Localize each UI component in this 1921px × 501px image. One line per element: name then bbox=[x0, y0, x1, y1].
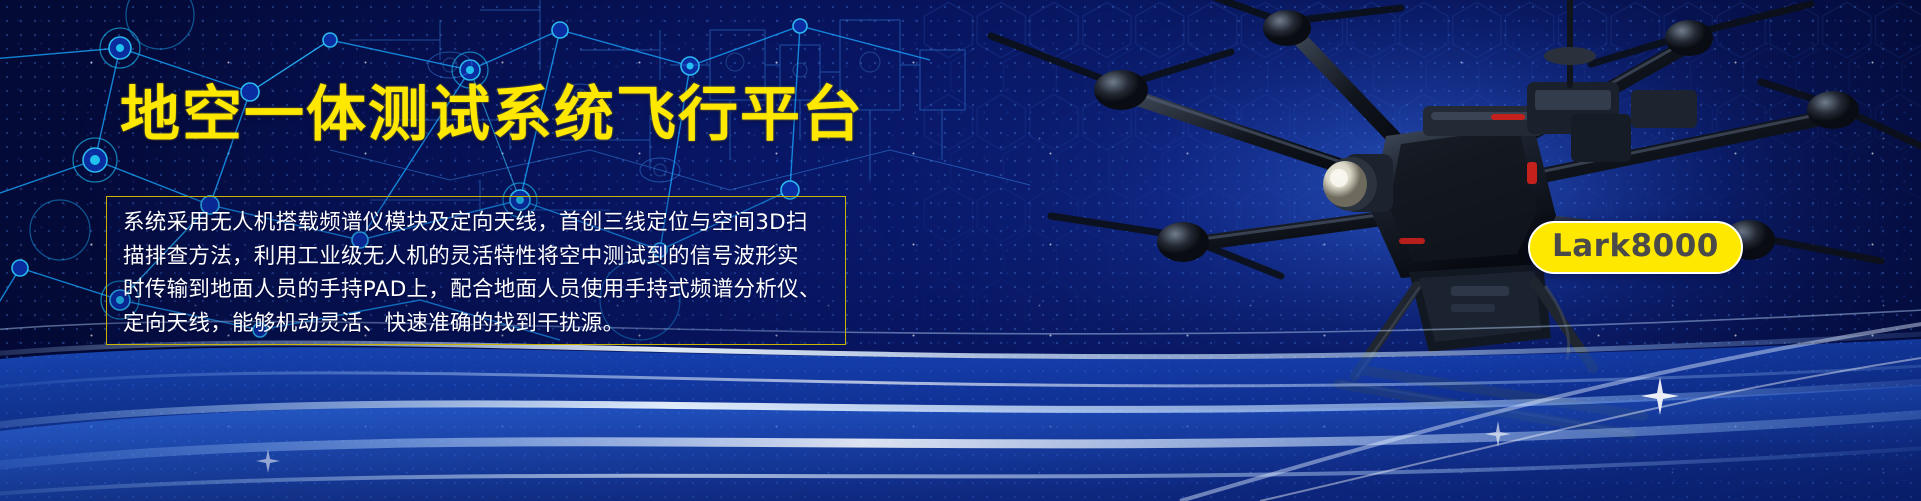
banner-title: 地空一体测试系统飞行平台 bbox=[120, 82, 864, 148]
description-line-1: 系统采用无人机搭载频谱仪模块及定向天线，首创三线定位与空间3D扫 bbox=[123, 206, 829, 240]
product-banner: 地空一体测试系统飞行平台 系统采用无人机搭载频谱仪模块及定向天线，首创三线定位与… bbox=[0, 0, 1921, 501]
description-box: 系统采用无人机搭载频谱仪模块及定向天线，首创三线定位与空间3D扫 描排查方法，利… bbox=[106, 196, 846, 345]
product-model-badge: Lark8000 bbox=[1528, 221, 1743, 274]
description-line-4: 定向天线，能够机动灵活、快速准确的找到干扰源。 bbox=[123, 307, 829, 341]
description-line-2: 描排查方法，利用工业级无人机的灵活特性将空中测试到的信号波形实 bbox=[123, 240, 829, 274]
description-line-3: 时传输到地面人员的手持PAD上，配合地面人员使用手持式频谱分析仪、 bbox=[123, 273, 829, 307]
